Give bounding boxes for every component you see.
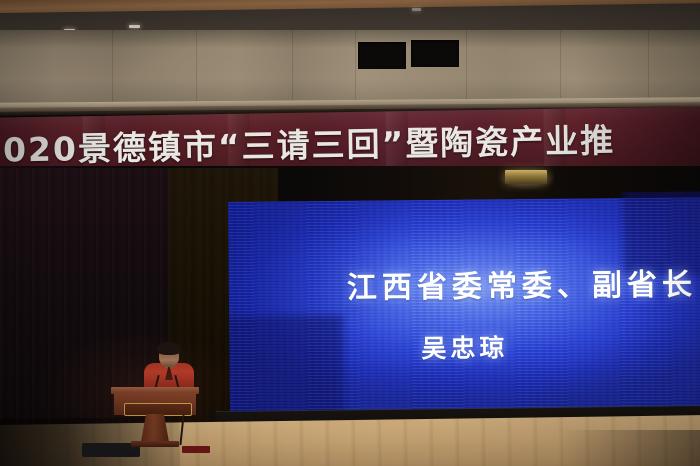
- ceiling-light-icon: [412, 8, 421, 11]
- led-display-screen: 江西省委常委、副省长 吴忠琼: [228, 191, 700, 414]
- wall-seam: [112, 30, 113, 112]
- speaker-hair: [157, 342, 181, 355]
- screen-title-line: 江西省委常委、副省长: [347, 260, 697, 307]
- floor-shadow-right: [560, 430, 700, 466]
- wall-vent-right: [411, 40, 459, 67]
- stage-photo-scene: 2020景德镇市“三请三回”暨陶瓷产业推 江西省委常委、副省长 吴忠琼: [0, 0, 700, 466]
- podium-base: [131, 441, 179, 447]
- wall-vent-left: [358, 42, 406, 69]
- podium-stem: [141, 414, 169, 442]
- banner-title-text: 2020景德镇市“三请三回”暨陶瓷产业推: [0, 112, 700, 172]
- screen-name-line: 吴忠琼: [421, 328, 508, 365]
- ceiling-light-icon: [129, 25, 140, 28]
- speaker-podium: [111, 387, 199, 449]
- podium-cable: [179, 415, 184, 445]
- wall-seam: [196, 30, 197, 112]
- stage-lamp: [505, 170, 547, 184]
- podium-front-face: [114, 393, 196, 415]
